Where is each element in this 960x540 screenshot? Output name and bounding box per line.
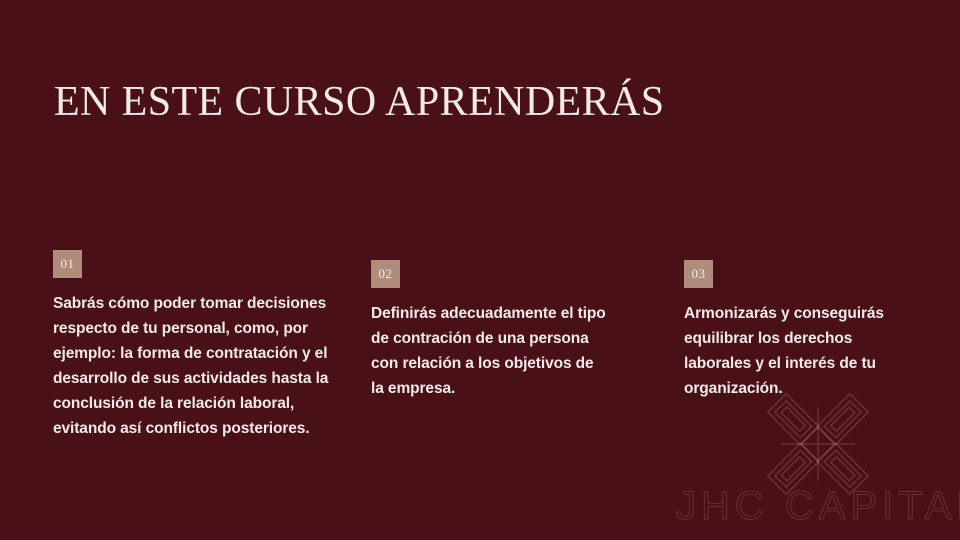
learning-point-1: 01 Sabrás cómo poder tomar decisiones re… xyxy=(53,250,331,457)
learning-point-text-2: Definirás adecuadamente el tipo de contr… xyxy=(371,301,606,401)
step-number-badge-1: 01 xyxy=(53,250,82,278)
slide-canvas: JHC CAPITAL EN ESTE CURSO APRENDERÁS 01 … xyxy=(0,0,960,540)
learning-point-3: 03 Armonizarás y conseguirás equilibrar … xyxy=(684,260,916,417)
page-title: EN ESTE CURSO APRENDERÁS xyxy=(54,78,665,126)
learning-point-2: 02 Definirás adecuadamente el tipo de co… xyxy=(371,260,606,417)
learning-point-text-1: Sabrás cómo poder tomar decisiones respe… xyxy=(53,291,331,441)
learning-point-text-3: Armonizarás y conseguirás equilibrar los… xyxy=(684,301,916,401)
step-number-badge-3: 03 xyxy=(684,260,713,288)
brand-watermark-text: JHC CAPITAL xyxy=(676,484,960,529)
step-number-badge-2: 02 xyxy=(371,260,400,288)
